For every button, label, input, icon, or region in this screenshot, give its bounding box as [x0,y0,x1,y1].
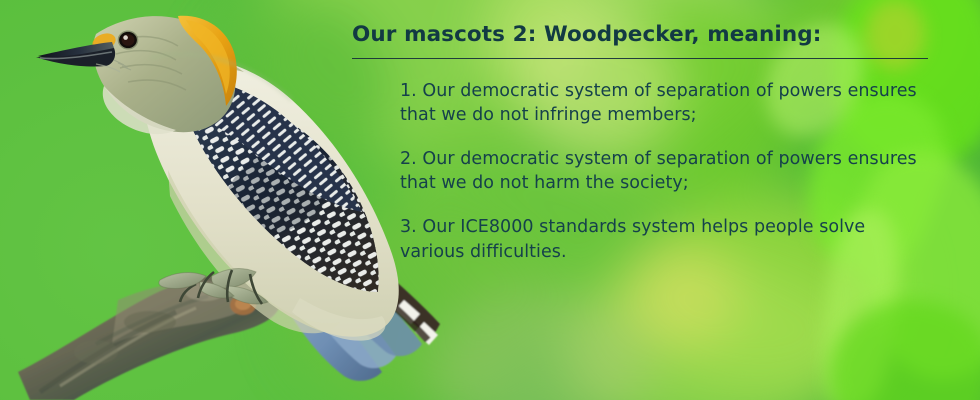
page-title: Our mascots 2: Woodpecker, meaning: [352,22,930,49]
title-divider [352,58,928,59]
head [90,16,237,134]
mascot-meaning-list: 1. Our democratic system of separation o… [352,79,930,264]
list-item: 2. Our democratic system of separation o… [400,147,930,195]
list-item: 3. Our ICE8000 standards system helps pe… [400,215,930,263]
mascot-banner: Our mascots 2: Woodpecker, meaning: 1. O… [0,0,980,400]
text-panel: Our mascots 2: Woodpecker, meaning: 1. O… [352,22,930,264]
eye [118,31,137,49]
list-item: 1. Our democratic system of separation o… [400,79,930,127]
